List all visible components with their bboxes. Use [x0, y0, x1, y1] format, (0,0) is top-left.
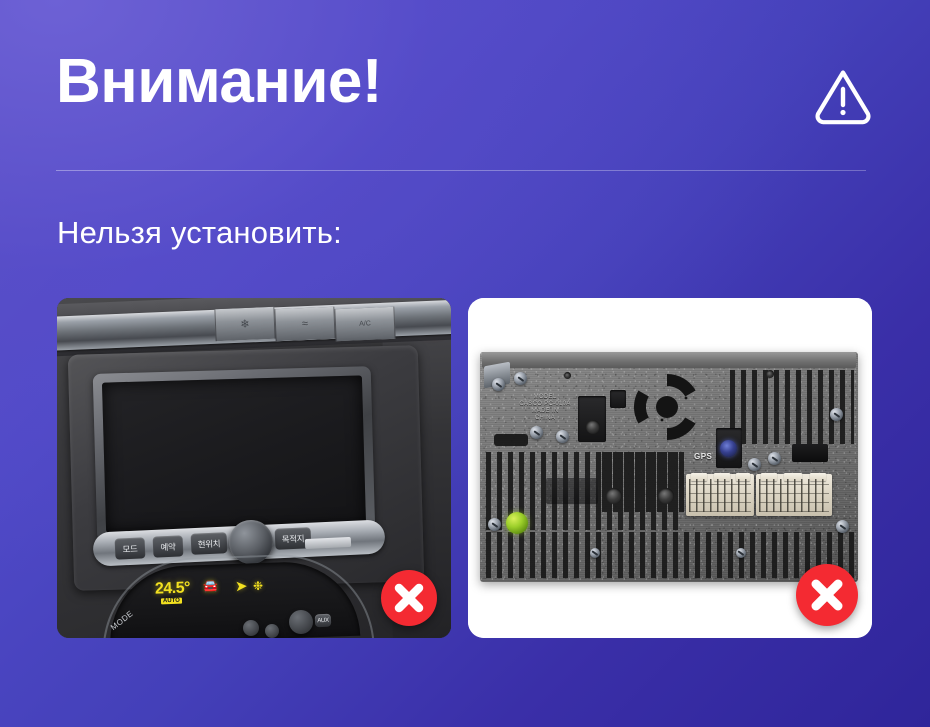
screw-bottom-left [488, 518, 501, 531]
screw-bottom-mid-1 [590, 548, 600, 558]
screw-mid-left [530, 426, 543, 439]
header-divider [56, 170, 866, 171]
warning-triangle-icon [812, 64, 874, 126]
screw-bottom-mid-2 [736, 548, 746, 558]
chassis-recess [546, 478, 598, 504]
vent-button-1[interactable]: ❄ [214, 307, 275, 341]
gps-antenna-connector[interactable] [720, 440, 737, 457]
vent-slot-left [494, 434, 528, 446]
screw-gps-2 [768, 452, 781, 465]
ac-icon: A/C [359, 320, 371, 327]
head-unit-chassis: MODELCASCO PC-010AMADE INCHINA GPS [480, 352, 858, 582]
dashboard-button-reserve[interactable]: 예약 [153, 535, 184, 557]
card-car-dashboard: ❄ ≈ A/C 모드 예약 현위치 목적지 24.5° AUTO 🚘 [57, 298, 451, 638]
fan-vent-icon [628, 368, 706, 446]
card-head-unit-rear: MODELCASCO PC-010AMADE INCHINA GPS [468, 298, 872, 638]
climate-button-small-1[interactable] [243, 620, 259, 636]
screen-frame [93, 366, 376, 542]
car-dashboard-image: ❄ ≈ A/C 모드 예약 현위치 목적지 24.5° AUTO 🚘 [57, 298, 451, 638]
av-connector[interactable] [792, 444, 828, 462]
chassis-top-rail [482, 352, 856, 368]
climate-temperature: 24.5° [155, 579, 191, 598]
dashboard-button-current-position[interactable]: 현위치 [191, 532, 228, 555]
mount-hole-3 [564, 372, 571, 379]
green-led-cap [506, 512, 528, 534]
iso-harness-b[interactable] [756, 474, 832, 516]
gps-label: GPS [694, 452, 712, 461]
slide-root: Внимание! Нельзя установить: ❄ ≈ A/C [0, 0, 930, 727]
x-mark-badge-right [796, 564, 858, 626]
page-title: Внимание! [56, 46, 382, 118]
seat-heat-icon: 🚘 [203, 579, 218, 594]
embossed-model-text: MODELCASCO PC-010AMADE INCHINA [502, 394, 588, 422]
climate-auto-badge: AUTO [161, 598, 182, 605]
screw-bottom-right [836, 520, 849, 533]
dashboard-button-mode[interactable]: 모드 [115, 537, 146, 559]
antenna-connector-body [578, 396, 606, 442]
screw-top-left [492, 378, 505, 391]
airflow-icon: ➤ [235, 577, 248, 595]
climate-knob-right[interactable] [289, 610, 313, 634]
vent-button-2[interactable]: ≈ [274, 307, 335, 341]
subtitle: Нельзя установить: [57, 212, 342, 254]
screw-mid-left-2 [556, 430, 569, 443]
screw-gps-1 [748, 458, 761, 471]
screw-top-right [830, 408, 843, 421]
aux-button[interactable]: AUX [315, 614, 332, 628]
mount-hole-4 [766, 370, 774, 378]
sd-card-slot[interactable] [305, 537, 351, 549]
mount-hole-2 [658, 488, 674, 504]
mount-hole-1 [606, 488, 622, 504]
airflow-icon: ≈ [302, 318, 309, 330]
snowflake-icon: ❄ [240, 317, 250, 330]
fan-icon: ❉ [253, 579, 264, 593]
vent-button-3[interactable]: A/C [334, 307, 395, 341]
heatsink-fins-top-right [730, 370, 854, 444]
antenna-connector[interactable] [586, 420, 600, 434]
connector-block-small [610, 390, 626, 408]
head-unit-image: MODELCASCO PC-010AMADE INCHINA GPS [468, 298, 872, 638]
climate-button-small-2[interactable] [265, 624, 279, 638]
x-mark-badge-left [381, 570, 437, 626]
iso-harness-a[interactable] [686, 474, 754, 516]
screw-top-left-2 [514, 372, 527, 385]
head-unit-screen[interactable] [102, 375, 366, 532]
